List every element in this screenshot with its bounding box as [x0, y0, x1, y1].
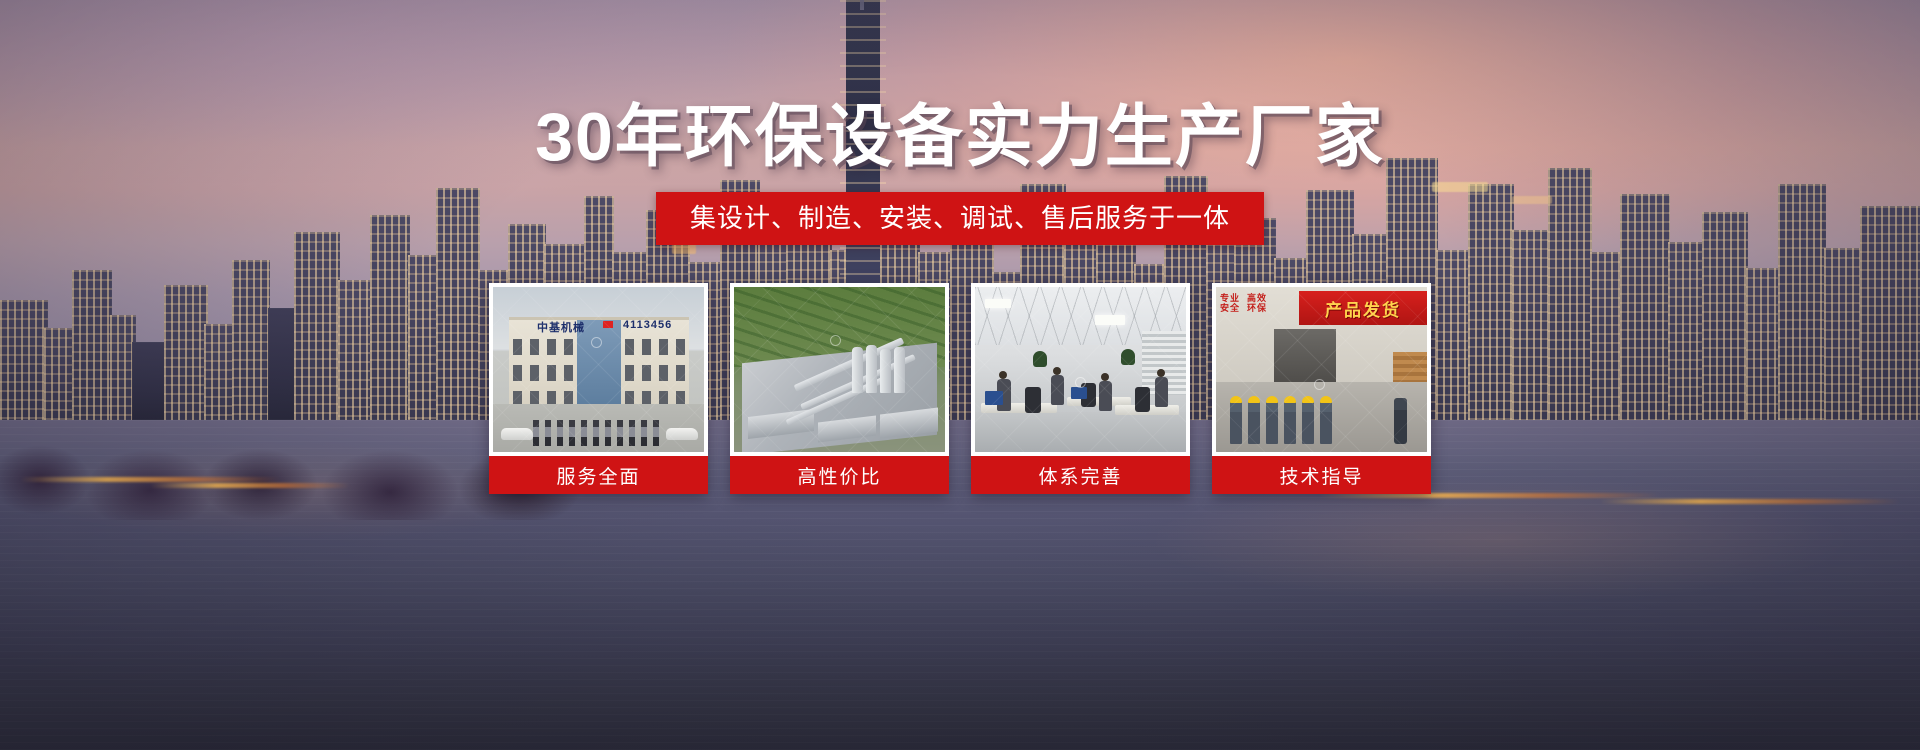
card-label-service: 服务全面	[489, 456, 708, 494]
page-title: 30年环保设备实力生产厂家	[0, 101, 1920, 173]
company-building-photo: 中基机械 4113456	[493, 287, 704, 452]
workshop-team-photo: 专业 高效安全 环保 产品发货	[1216, 287, 1427, 452]
feature-card-service[interactable]: 中基机械 4113456	[489, 283, 708, 494]
card-label-system: 体系完善	[971, 456, 1190, 494]
workshop-red-banner: 产品发货	[1299, 291, 1427, 325]
subtitle-badge: 集设计、制造、安装、调试、售后服务于一体	[656, 192, 1264, 245]
office-workspace-photo	[975, 287, 1186, 452]
building-signage: 中基机械	[537, 319, 607, 331]
wall-slogan-text: 专业 高效安全 环保	[1220, 293, 1304, 323]
building-phone-number: 4113456	[623, 319, 672, 331]
feature-card-row: 中基机械 4113456	[0, 283, 1920, 494]
card-label-guidance: 技术指导	[1212, 456, 1431, 494]
feature-card-system[interactable]: 体系完善	[971, 283, 1190, 494]
aerial-plant-photo	[734, 287, 945, 452]
feature-card-value[interactable]: 高性价比	[730, 283, 949, 494]
feature-card-guidance[interactable]: 专业 高效安全 环保 产品发货	[1212, 283, 1431, 494]
card-label-value: 高性价比	[730, 456, 949, 494]
hero-banner: 30年环保设备实力生产厂家 集设计、制造、安装、调试、售后服务于一体 中基机械	[0, 0, 1920, 750]
